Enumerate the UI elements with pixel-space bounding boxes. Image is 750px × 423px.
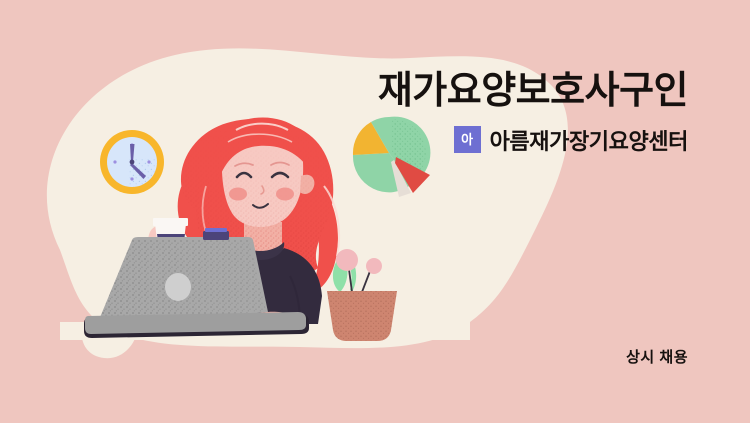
blush-right [276,188,294,201]
job-posting-banner: 재가요양보호사구인 아 아름재가장기요양센터 상시 채용 [0,0,750,423]
brand-name: 아름재가장기요양센터 [490,124,688,156]
brand-row: 아 아름재가장기요양센터 [378,124,688,156]
headline-block: 재가요양보호사구인 아 아름재가장기요양센터 [378,70,688,156]
usb-stick [203,231,229,240]
laptop-logo [165,273,191,301]
blush-left [229,188,247,201]
wall-clock [100,130,164,194]
page-title: 재가요양보호사구인 [378,70,688,113]
brand-logo-badge: 아 [454,126,481,153]
flower-large [336,249,358,271]
hiring-status-text: 상시 채용 [626,346,688,367]
flower-small [366,258,382,274]
